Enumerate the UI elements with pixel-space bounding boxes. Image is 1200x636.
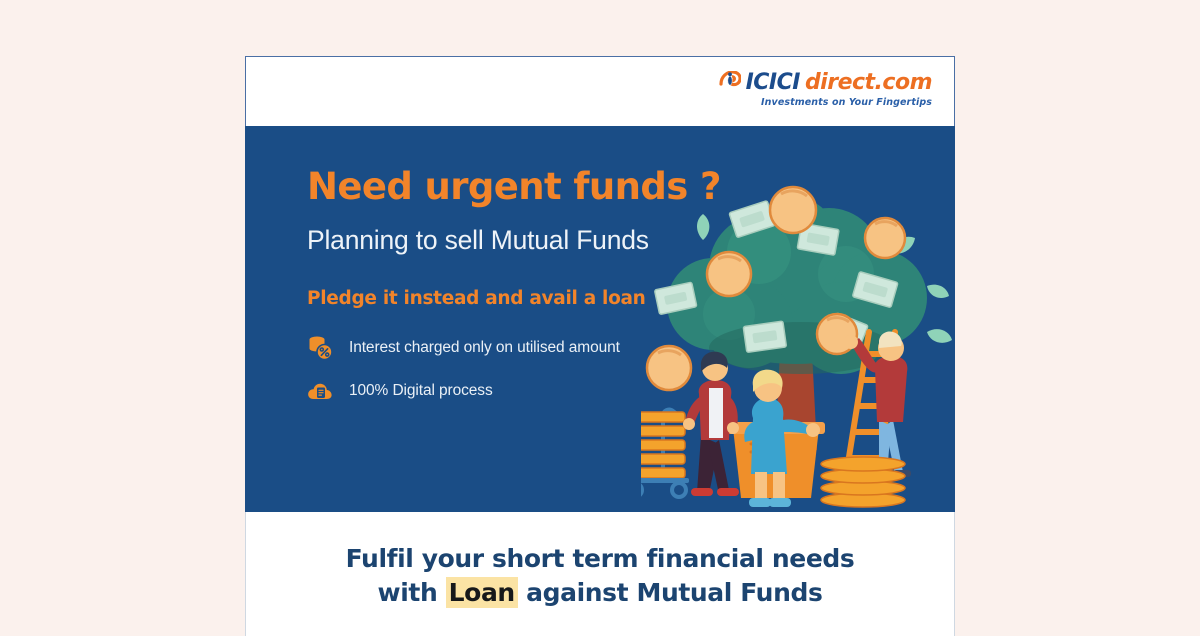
footer-loan-highlight: Loan <box>446 577 518 608</box>
card-footer: Fulfil your short term financial needs w… <box>245 512 955 636</box>
logo-brand-primary: ICICI <box>746 72 800 94</box>
footer-line-2: with Loan against Mutual Funds <box>246 576 954 610</box>
logo-tagline: Investments on Your Fingertips <box>719 98 932 108</box>
benefit-item-interest: Interest charged only on utilised amount <box>307 335 727 361</box>
icicidirect-logo[interactable]: ICICI direct.com Investments on Your Fin… <box>719 71 932 108</box>
footer-line-1: Fulfil your short term financial needs <box>246 542 954 576</box>
hero-subheadline: Planning to sell Mutual Funds <box>307 225 727 256</box>
benefit-item-digital: 100% Digital process <box>307 378 727 404</box>
icici-swoosh-icon <box>719 71 741 95</box>
card-header: ICICI direct.com Investments on Your Fin… <box>245 56 955 126</box>
hero-benefit-list: Interest charged only on utilised amount <box>307 335 727 404</box>
hero-section: Need urgent funds ? Planning to sell Mut… <box>245 126 955 512</box>
email-banner-page: ICICI direct.com Investments on Your Fin… <box>0 0 1200 630</box>
cloud-document-icon <box>307 378 333 404</box>
hero-pledge-line: Pledge it instead and avail a loan <box>307 288 727 309</box>
logo-brand-secondary: direct.com <box>805 72 932 94</box>
benefit-item-digital-label: 100% Digital process <box>349 382 493 400</box>
hero-headline: Need urgent funds ? <box>307 168 727 207</box>
coin-stack-right <box>821 457 905 507</box>
benefit-item-interest-label: Interest charged only on utilised amount <box>349 339 620 357</box>
logo-wordmark-row: ICICI direct.com <box>719 71 932 95</box>
coins-percent-icon <box>307 335 333 361</box>
email-card: ICICI direct.com Investments on Your Fin… <box>245 56 955 636</box>
footer-line-2-suffix: against Mutual Funds <box>518 578 823 607</box>
hero-copy: Need urgent funds ? Planning to sell Mut… <box>307 168 727 421</box>
footer-line-2-prefix: with <box>378 578 446 607</box>
